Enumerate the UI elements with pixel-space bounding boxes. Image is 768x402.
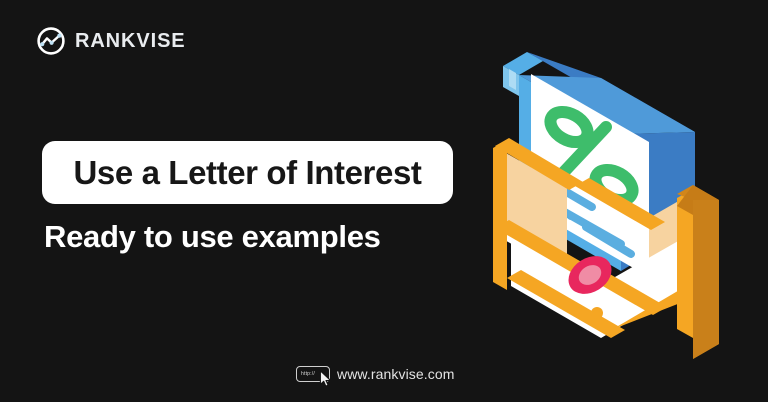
rankvise-chart-circle-icon bbox=[36, 26, 66, 56]
address-bar-label: http:// bbox=[301, 372, 315, 377]
footer-url-text: www.rankvise.com bbox=[337, 367, 455, 381]
headline-plate: Use a Letter of Interest bbox=[42, 141, 453, 204]
footer-url[interactable]: http:// www.rankvise.com bbox=[296, 366, 455, 382]
isometric-envelope-illustration bbox=[489, 28, 732, 373]
mouse-pointer-icon bbox=[319, 370, 332, 387]
page-title: Use a Letter of Interest bbox=[73, 156, 421, 189]
page-subtitle: Ready to use examples bbox=[44, 219, 381, 255]
promo-banner: RANKVISE Use a Letter of Interest Ready … bbox=[0, 0, 768, 402]
address-bar-icon: http:// bbox=[296, 366, 330, 382]
brand-name: RANKVISE bbox=[75, 31, 186, 51]
brand-logo[interactable]: RANKVISE bbox=[36, 26, 186, 56]
